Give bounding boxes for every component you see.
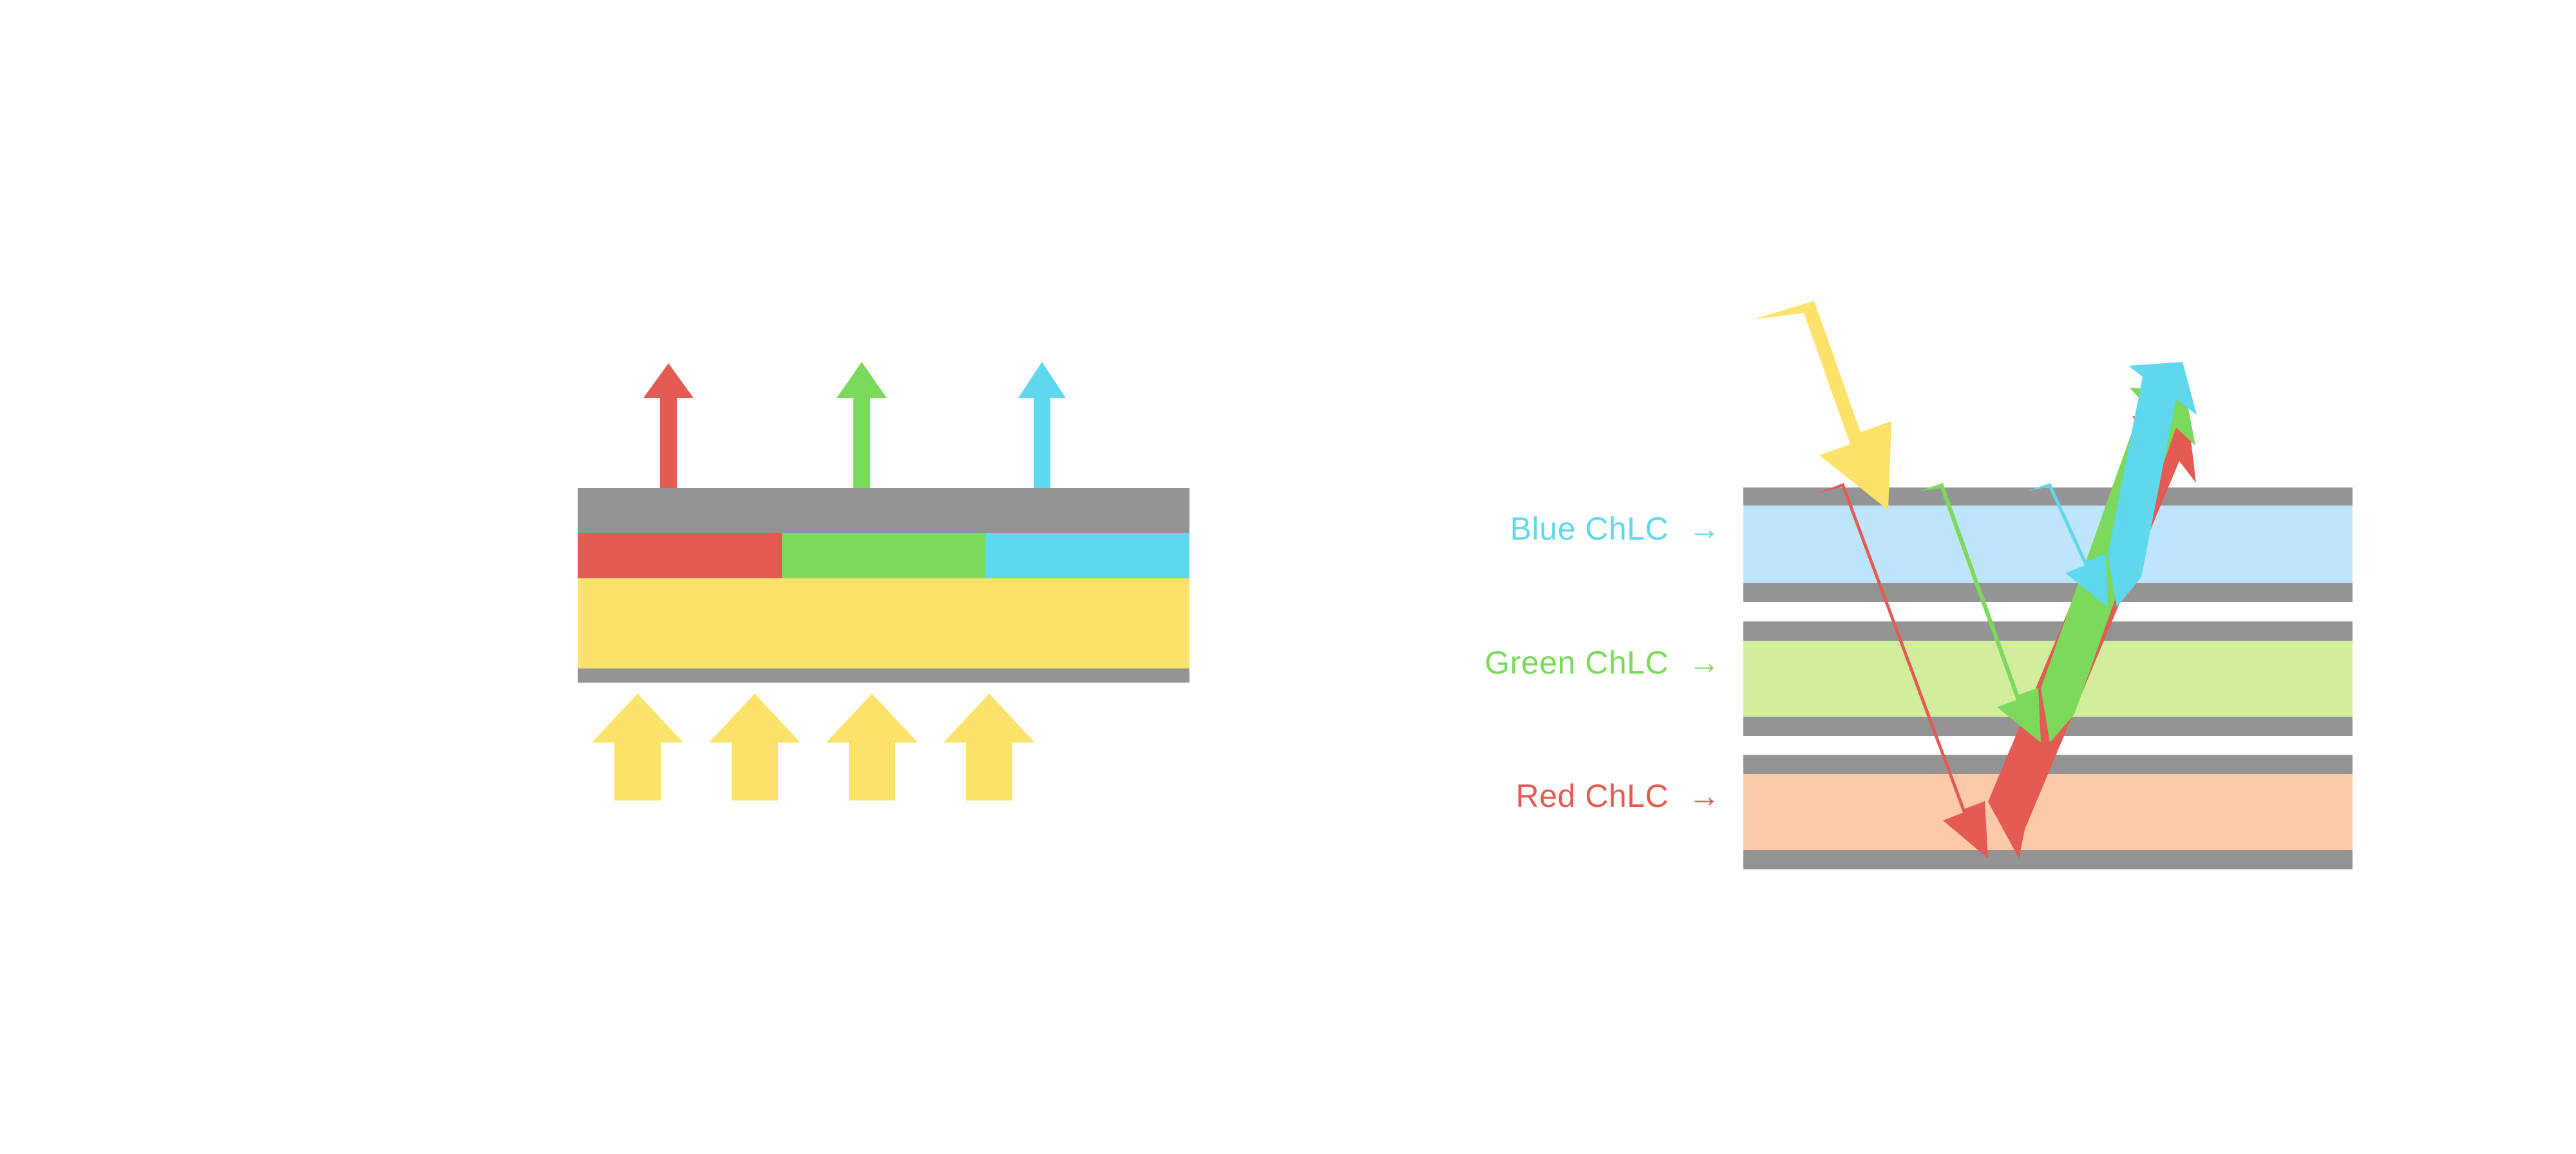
blue-chlc-label: Blue ChLC <box>1510 511 1669 547</box>
red-cell <box>1743 755 2353 869</box>
right-stack <box>1743 487 2353 869</box>
filter-segment-green <box>782 533 986 578</box>
diagram-canvas: Blue ChLC → Green ChLC → Red ChLC → <box>0 0 2576 1154</box>
left-bottom-electrode <box>578 668 1189 683</box>
left-colour-filter <box>578 533 1189 578</box>
red-chlc-layer <box>1743 774 2353 850</box>
blue-chlc-layer <box>1743 506 2353 583</box>
ambient-light-arrow <box>1754 301 1891 510</box>
left-emitted-arrows <box>578 322 1189 489</box>
backlight-arrow-1 <box>592 694 683 800</box>
left-panel <box>578 322 1189 811</box>
green-cell-bottom-electrode <box>1743 717 2353 736</box>
red-chlc-pointer-arrow-icon: → <box>1678 778 1721 814</box>
emitted-green-arrow <box>837 362 887 488</box>
red-cell-bottom-electrode <box>1743 850 2353 869</box>
filter-segment-cyan <box>985 533 1189 578</box>
red-chlc-label: Red ChLC <box>1516 778 1669 814</box>
blue-chlc-pointer-arrow-icon: → <box>1678 511 1721 547</box>
filter-segment-red <box>578 533 782 578</box>
backlight-arrow-4 <box>943 694 1035 800</box>
left-stack <box>578 488 1189 683</box>
left-backlight-arrows <box>578 692 1189 802</box>
blue-cell-top-electrode <box>1743 487 2353 506</box>
blue-chlc-label-group: Blue ChLC → <box>1321 510 1721 547</box>
red-chlc-label-group: Red ChLC → <box>1321 777 1721 815</box>
green-chlc-pointer-arrow-icon: → <box>1678 645 1721 681</box>
left-top-electrode <box>578 488 1189 533</box>
green-chlc-layer <box>1743 641 2353 717</box>
green-chlc-label: Green ChLC <box>1484 645 1669 681</box>
green-chlc-label-group: Green ChLC → <box>1321 644 1721 681</box>
right-panel: Blue ChLC → Green ChLC → Red ChLC → <box>1743 270 2353 869</box>
green-cell <box>1743 621 2353 736</box>
red-cell-top-electrode <box>1743 755 2353 774</box>
emitted-red-arrow <box>643 363 694 488</box>
backlight-arrow-3 <box>826 694 918 800</box>
left-backlight-layer <box>578 578 1189 668</box>
blue-cell-bottom-electrode <box>1743 583 2353 602</box>
backlight-arrow-2 <box>709 694 800 800</box>
blue-cell <box>1743 487 2353 602</box>
emitted-cyan-arrow <box>1018 362 1066 488</box>
green-cell-top-electrode <box>1743 621 2353 641</box>
